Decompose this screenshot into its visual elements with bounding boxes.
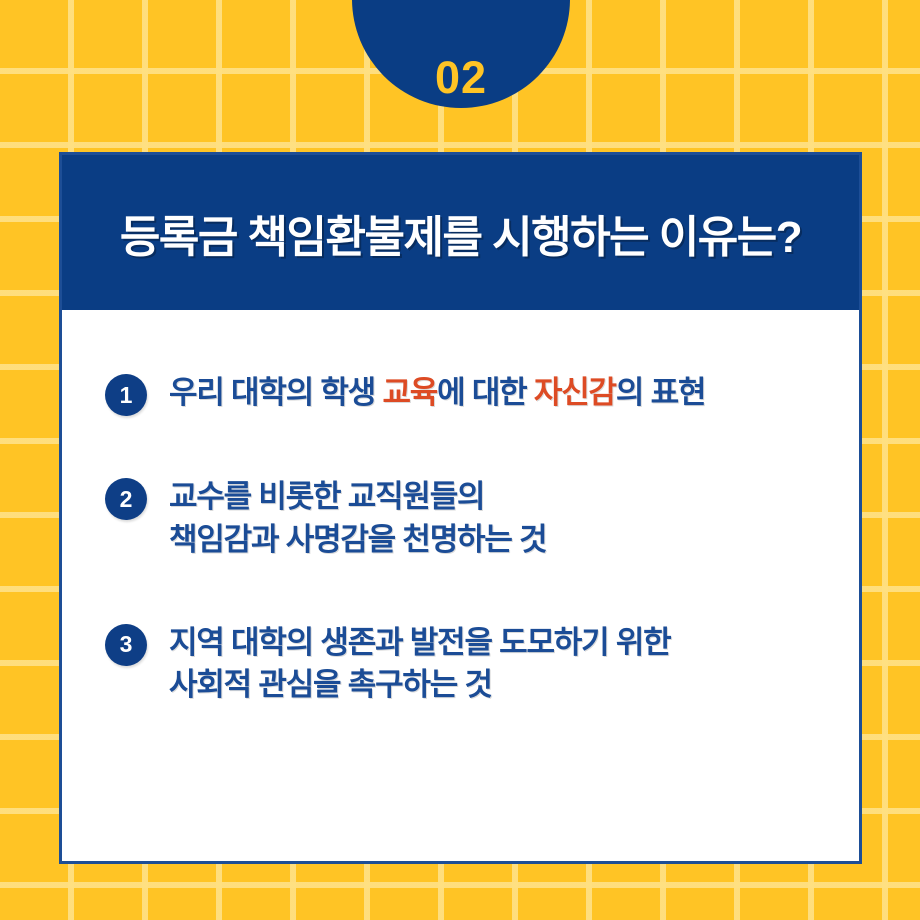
list-item-number-badge: 1 bbox=[105, 374, 147, 416]
reason-list: 1 우리 대학의 학생 교육에 대한 자신감의 표현 2 교수를 비롯한 교직원… bbox=[62, 310, 859, 861]
list-item-number-badge: 2 bbox=[105, 478, 147, 520]
infographic-poster: 02 등록금 책임환불제를 시행하는 이유는? 1 우리 대학의 학생 교육에 … bbox=[0, 0, 920, 920]
step-number-label: 02 bbox=[435, 55, 487, 100]
step-number-badge: 02 bbox=[352, 0, 570, 108]
list-item-number-badge: 3 bbox=[105, 624, 147, 666]
list-item-text: 우리 대학의 학생 교육에 대한 자신감의 표현 bbox=[169, 372, 705, 415]
list-item: 1 우리 대학의 학생 교육에 대한 자신감의 표현 bbox=[105, 372, 819, 416]
list-item: 3 지역 대학의 생존과 발전을 도모하기 위한사회적 관심을 촉구하는 것 bbox=[105, 622, 819, 708]
page-title: 등록금 책임환불제를 시행하는 이유는? bbox=[120, 201, 801, 265]
list-item-text: 교수를 비롯한 교직원들의책임감과 사명감을 천명하는 것 bbox=[169, 476, 546, 562]
content-card: 등록금 책임환불제를 시행하는 이유는? 1 우리 대학의 학생 교육에 대한 … bbox=[59, 152, 862, 864]
card-header: 등록금 책임환불제를 시행하는 이유는? bbox=[62, 155, 859, 310]
list-item-text: 지역 대학의 생존과 발전을 도모하기 위한사회적 관심을 촉구하는 것 bbox=[169, 622, 671, 708]
list-item: 2 교수를 비롯한 교직원들의책임감과 사명감을 천명하는 것 bbox=[105, 476, 819, 562]
